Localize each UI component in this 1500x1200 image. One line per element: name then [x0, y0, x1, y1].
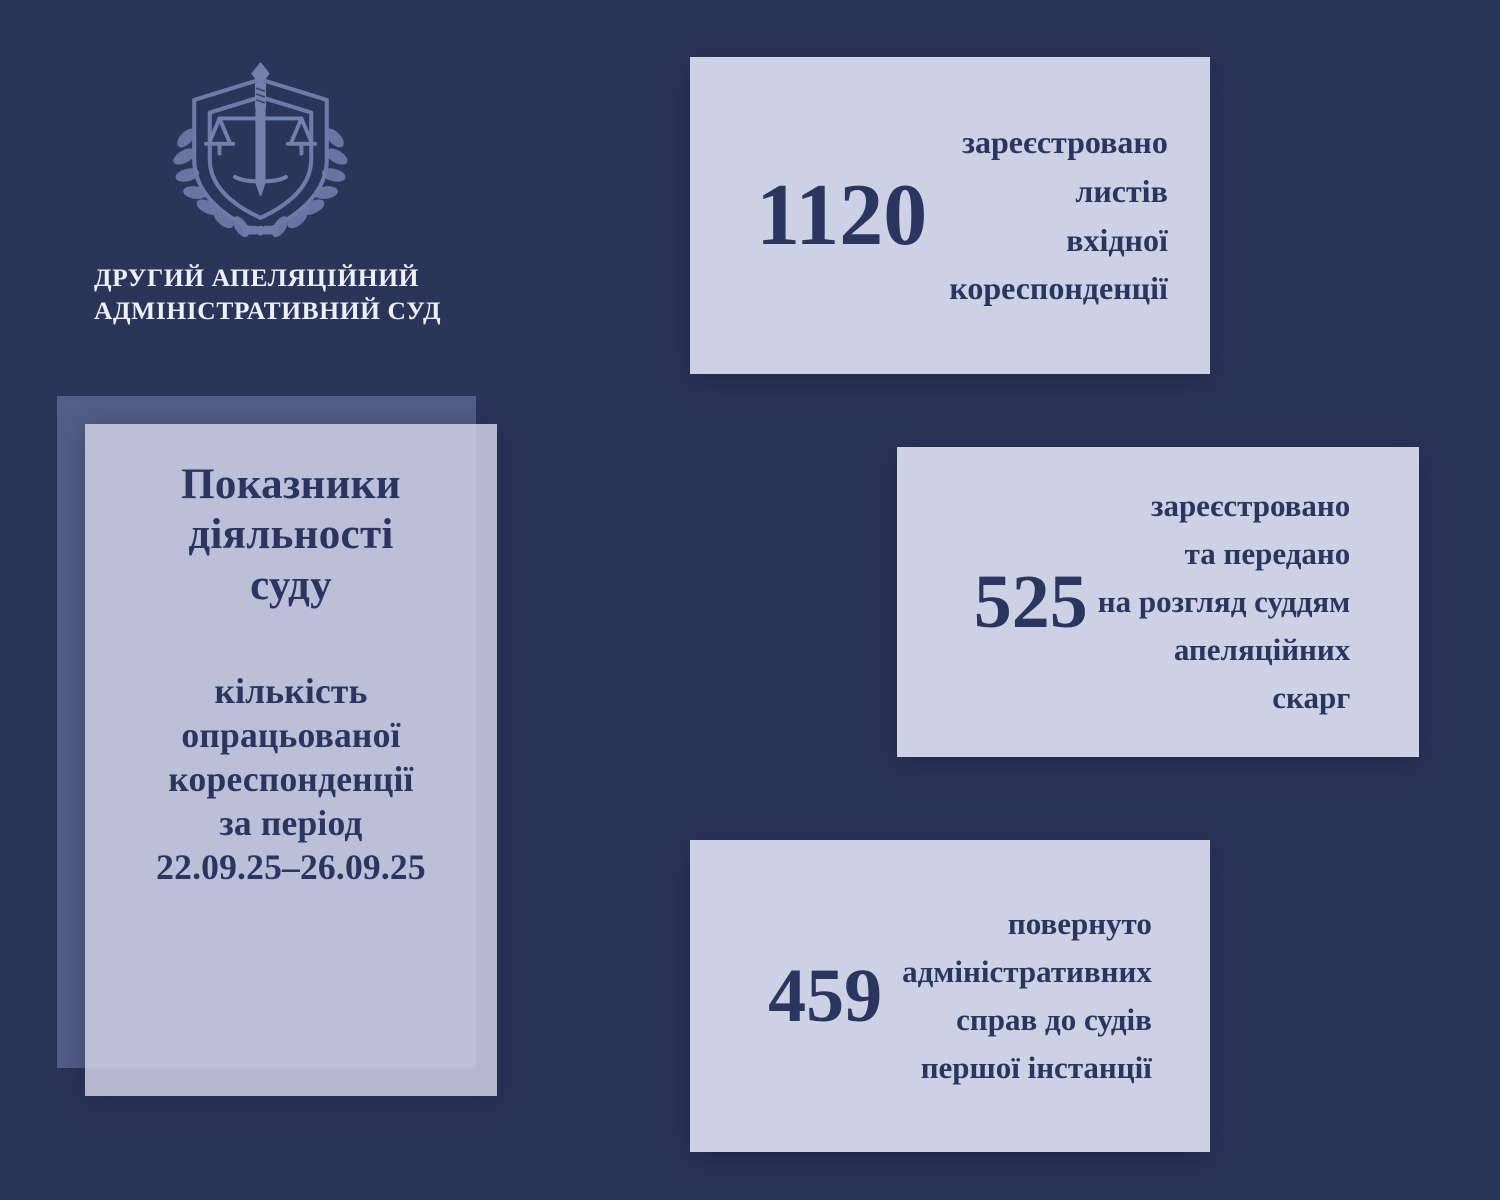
stat-label: повернуто адміністративних справ до суді… [902, 900, 1152, 1092]
infographic-canvas: ДРУГИЙ АПЕЛЯЦІЙНИЙ АДМІНІСТРАТИВНИЙ СУД … [0, 0, 1500, 1200]
page-subtitle: кількість опрацьованої кореспонденції за… [85, 669, 497, 889]
title-card: Показники діяльності суду кількість опра… [85, 424, 497, 1096]
stat-value: 459 [768, 958, 882, 1034]
stat-label: зареєстровано листів вхідної кореспонден… [949, 118, 1168, 313]
stat-card-registered-letters: 1120 зареєстровано листів вхідної коресп… [690, 57, 1210, 374]
stat-card-cases-returned: 459 повернуто адміністративних справ до … [690, 840, 1210, 1152]
stat-value: 1120 [756, 172, 927, 260]
stat-value: 525 [974, 564, 1088, 640]
stat-label: зареєстровано та передано на розгляд суд… [1098, 482, 1351, 722]
court-emblem-icon [163, 58, 358, 253]
page-title: Показники діяльності суду [85, 460, 497, 611]
court-name: ДРУГИЙ АПЕЛЯЦІЙНИЙ АДМІНІСТРАТИВНИЙ СУД [94, 262, 514, 327]
stat-card-appeals-transferred: 525 зареєстровано та передано на розгляд… [897, 447, 1419, 757]
